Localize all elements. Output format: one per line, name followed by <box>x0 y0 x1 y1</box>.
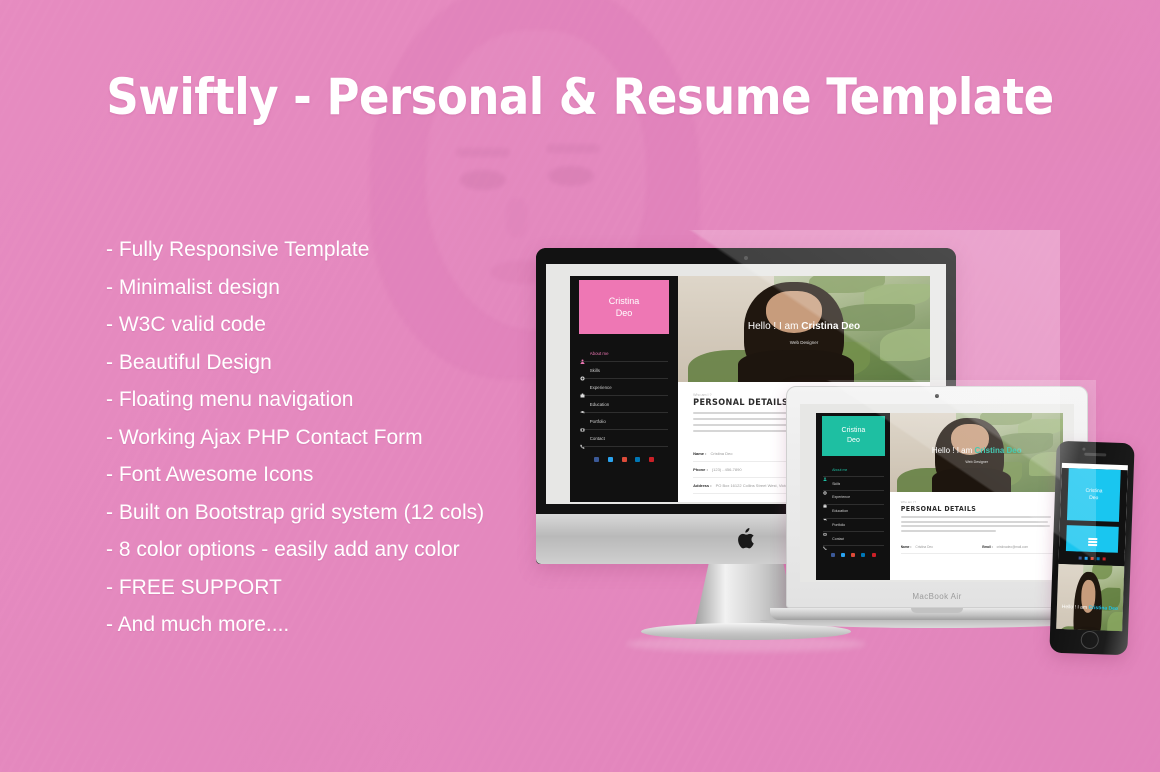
sidebar-item-experience[interactable]: Experience <box>580 379 669 396</box>
sidebar-item-label: About me <box>832 468 847 472</box>
sidebar-item-experience[interactable]: Experience <box>823 491 884 505</box>
detail-key: Name : <box>901 545 912 549</box>
sidebar-item-portfolio[interactable]: Portfolio <box>823 519 884 533</box>
sidebar-item-skills[interactable]: Skills <box>823 477 884 491</box>
mobile-menu-button[interactable] <box>1066 525 1119 553</box>
sidebar: Cristina Deo About me Skills <box>570 276 678 502</box>
linkedin-icon[interactable] <box>861 553 865 557</box>
feature-list: - Fully Responsive Template - Minimalist… <box>106 236 536 649</box>
device-mockups: Cristina Deo About me Skills <box>500 230 1160 660</box>
hero-name: Cristina Deo <box>801 321 860 332</box>
iphone-mockup: Cristina Deo <box>1049 441 1134 656</box>
iphone-screen: Cristina Deo <box>1056 463 1128 631</box>
twitter-icon[interactable] <box>608 457 613 462</box>
macbook-notch <box>911 608 963 613</box>
list-item: - 8 color options - easily add any color <box>106 536 536 563</box>
logo-last-name: Deo <box>847 436 860 446</box>
cog-icon <box>823 482 827 486</box>
table-row: Name :Cristina Deo Email :cristinadeo@ma… <box>901 541 1055 554</box>
sidebar-logo: Cristina Deo <box>822 416 884 456</box>
social-links <box>823 553 884 557</box>
logo-last-name: Deo <box>616 307 633 319</box>
sidebar-logo: Cristina Deo <box>1067 468 1121 522</box>
list-item: - W3C valid code <box>106 311 536 338</box>
pinterest-icon[interactable] <box>1102 557 1105 560</box>
details-table: Name :Cristina Deo Email :cristinadeo@ma… <box>901 541 1055 554</box>
detail-key: Name : <box>693 451 706 456</box>
detail-value: Cristina Deo <box>710 451 732 456</box>
sidebar-item-label: Skills <box>590 368 600 373</box>
hero-greeting: Hello ! I am <box>1062 604 1089 611</box>
sidebar-item-contact[interactable]: Contact <box>823 532 884 546</box>
google-plus-icon[interactable] <box>851 553 855 557</box>
sidebar-item-education[interactable]: Education <box>580 396 669 413</box>
twitter-icon[interactable] <box>841 553 845 557</box>
google-plus-icon[interactable] <box>1090 557 1093 560</box>
hamburger-icon <box>1088 538 1097 540</box>
graduation-cap-icon <box>580 402 585 407</box>
hero-greeting: Hello ! I am <box>932 446 975 455</box>
sidebar-item-label: About me <box>590 351 609 356</box>
social-links <box>580 457 669 462</box>
sidebar-item-contact[interactable]: Contact <box>580 430 669 447</box>
user-icon <box>823 468 827 472</box>
list-item: - Minimalist design <box>106 274 536 301</box>
page-title: Swiftly - Personal & Resume Template <box>0 68 1160 126</box>
macbook-screen: Cristina Deo About me <box>800 404 1074 582</box>
twitter-icon[interactable] <box>1084 557 1087 560</box>
sidebar-item-about-me[interactable]: About me <box>580 345 669 362</box>
phone-icon <box>580 436 585 441</box>
pinterest-icon[interactable] <box>872 553 876 557</box>
detail-value: (123) - 456-7890 <box>712 467 742 472</box>
personal-details-section: Who am I ? PERSONAL DETAILS Name :Cristi… <box>901 500 1055 554</box>
briefcase-icon <box>823 495 827 499</box>
hero-subtitle: Web Designer <box>678 340 930 345</box>
hero-caption: Hello ! I am Cristina Deo <box>678 321 930 332</box>
sidebar-item-label: Education <box>590 402 610 407</box>
sidebar: Cristina Deo About me <box>816 413 890 580</box>
detail-value: Cristina Deo <box>915 545 933 549</box>
camera-icon <box>823 523 827 527</box>
list-item: - Beautiful Design <box>106 349 536 376</box>
list-item: - Fully Responsive Template <box>106 236 536 263</box>
macbook-mockup: Cristina Deo About me <box>786 386 1088 638</box>
graduation-cap-icon <box>823 509 827 513</box>
linkedin-icon[interactable] <box>1096 557 1099 560</box>
imac-reflection <box>626 636 866 652</box>
sidebar-item-label: Experience <box>832 495 850 499</box>
linkedin-icon[interactable] <box>635 457 640 462</box>
sidebar-item-education[interactable]: Education <box>823 505 884 519</box>
list-item: - Built on Bootstrap grid system (12 col… <box>106 499 536 526</box>
list-item: - And much more.... <box>106 611 536 638</box>
section-paragraph <box>901 516 1055 532</box>
section-title: PERSONAL DETAILS <box>901 505 1055 513</box>
imac-camera-icon <box>744 256 748 260</box>
template-preview-laptop: Cristina Deo About me <box>800 404 1074 582</box>
iphone-camera-icon <box>1082 448 1085 451</box>
list-item: - Font Awesome Icons <box>106 461 536 488</box>
hero-banner: Hello ! I am Cristina Deo Web Designer <box>678 276 930 382</box>
user-icon <box>580 351 585 356</box>
sidebar-item-label: Skills <box>832 482 840 486</box>
logo-first-name: Cristina <box>842 426 866 436</box>
hero-caption: Hello ! I am Cristina Deo <box>890 446 1063 455</box>
logo-last-name: Deo <box>1089 495 1098 502</box>
list-item: - Working Ajax PHP Contact Form <box>106 424 536 451</box>
list-item: - Floating menu navigation <box>106 386 536 413</box>
template-preview-mobile: Cristina Deo <box>1056 468 1128 631</box>
hero-name: Cristina Deo <box>1088 604 1118 611</box>
hero-banner: Hello ! I am Cristina Deo <box>1056 564 1124 631</box>
detail-value: cristinadeo@mail.com <box>997 545 1028 549</box>
sidebar-item-label: Education <box>832 509 848 513</box>
pinterest-icon[interactable] <box>649 457 654 462</box>
hero-name: Cristina Deo <box>975 446 1022 455</box>
detail-key: Email : <box>982 545 992 549</box>
content-area: Hello ! I am Cristina Deo Web Designer W… <box>890 413 1063 580</box>
section-eyebrow: Who am I ? <box>901 500 1055 504</box>
list-item: - FREE SUPPORT <box>106 574 536 601</box>
sidebar-item-about-me[interactable]: About me <box>823 463 884 477</box>
facebook-icon[interactable] <box>1078 557 1081 560</box>
hero-greeting: Hello ! I am <box>748 321 801 332</box>
sidebar-item-label: Experience <box>590 385 612 390</box>
cog-icon <box>580 368 585 373</box>
sidebar-nav: About me Skills Experience <box>580 345 669 447</box>
promo-banner: Swiftly - Personal & Resume Template - F… <box>0 0 1160 772</box>
sidebar-item-label: Contact <box>590 436 605 441</box>
sidebar-item-label: Portfolio <box>590 419 606 424</box>
sidebar-item-skills[interactable]: Skills <box>580 362 669 379</box>
sidebar-nav: About me Skills Experience <box>823 463 884 546</box>
macbook-camera-icon <box>935 394 939 398</box>
detail-key: Address : <box>693 483 711 488</box>
phone-icon <box>823 537 827 541</box>
google-plus-icon[interactable] <box>622 457 627 462</box>
sidebar-item-label: Portfolio <box>832 523 845 527</box>
apple-logo-icon <box>737 528 755 549</box>
sidebar-logo: Cristina Deo <box>579 280 670 334</box>
logo-first-name: Cristina <box>609 295 640 307</box>
detail-key: Phone : <box>693 467 708 472</box>
sidebar-item-label: Contact <box>832 537 844 541</box>
camera-icon <box>580 419 585 424</box>
facebook-icon[interactable] <box>831 553 835 557</box>
hero-banner: Hello ! I am Cristina Deo Web Designer <box>890 413 1063 492</box>
hero-subtitle: Web Designer <box>890 460 1063 464</box>
briefcase-icon <box>580 385 585 390</box>
facebook-icon[interactable] <box>594 457 599 462</box>
sidebar-item-portfolio[interactable]: Portfolio <box>580 413 669 430</box>
macbook-model-label: MacBook Air <box>787 592 1087 601</box>
